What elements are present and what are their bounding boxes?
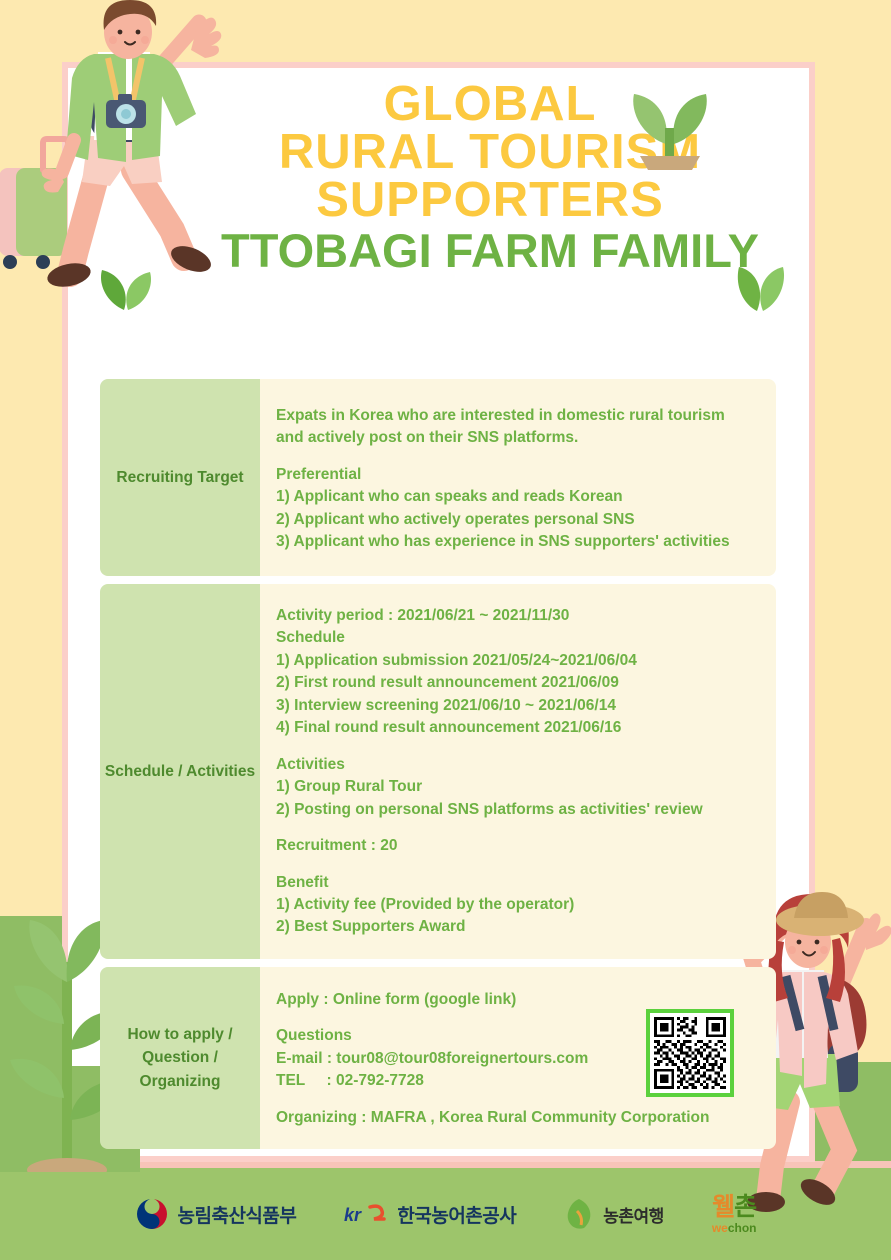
poster-title: GLOBAL RURAL TOURISM SUPPORTERS TTOBAGI … <box>150 80 830 274</box>
welchon-english: wechon <box>712 1222 757 1234</box>
spacer <box>276 858 758 872</box>
spacer <box>276 821 758 835</box>
welchon-korean: 웰촌 <box>712 1195 756 1220</box>
text-line: 2) Applicant who actively operates perso… <box>276 509 758 531</box>
table-row-how-to-apply: How to apply / Question / Organizing App… <box>100 967 776 1149</box>
title-line-4: TTOBAGI FARM FAMILY <box>150 228 830 274</box>
welchon-en-1: we <box>712 1221 728 1235</box>
row-body-recruiting-target: Expats in Korea who are interested in do… <box>260 379 776 576</box>
footer-logo-bar: 농림축산식품부 kr 한국농어촌공사 농촌여행 웰촌 wechon <box>0 1168 891 1260</box>
svg-text:kr: kr <box>344 1205 362 1225</box>
welchon-ko-2: 촌 <box>734 1193 756 1221</box>
row-label-schedule-activities: Schedule / Activities <box>100 584 260 959</box>
text-line: Preferential <box>276 464 758 486</box>
logo-label-rural-travel: 농촌여행 <box>603 1202 664 1227</box>
text-line: 3) Applicant who has experience in SNS s… <box>276 531 758 553</box>
logo-label-krc: 한국농어촌공사 <box>397 1201 516 1228</box>
spacer <box>276 450 758 464</box>
leaf-icon-ttobagi <box>96 268 154 310</box>
table-row-recruiting-target: Recruiting Target Expats in Korea who ar… <box>100 379 776 576</box>
poster-root: GLOBAL RURAL TOURISM SUPPORTERS TTOBAGI … <box>0 0 891 1260</box>
title-line-1: GLOBAL <box>150 80 830 128</box>
title-line-3: SUPPORTERS <box>150 176 830 224</box>
row-body-schedule-activities: Activity period : 2021/06/21 ~ 2021/11/3… <box>260 584 776 959</box>
text-line: 2) Best Supporters Award <box>276 916 758 938</box>
welchon-ko-1: 웰 <box>712 1193 734 1221</box>
text-line: Recruitment : 20 <box>276 835 758 857</box>
logo-label-mafra: 농림축산식품부 <box>178 1201 297 1228</box>
info-table: Recruiting Target Expats in Korea who ar… <box>100 379 776 1157</box>
logo-welchon: 웰촌 wechon <box>712 1195 757 1234</box>
sprout-icon <box>622 86 718 172</box>
text-line: 1) Activity fee (Provided by the operato… <box>276 894 758 916</box>
table-row-schedule-activities: Schedule / Activities Activity period : … <box>100 584 776 959</box>
text-line: 2) First round result announcement 2021/… <box>276 672 758 694</box>
text-line: Activities <box>276 754 758 776</box>
title-line-2: RURAL TOURISM <box>150 128 830 176</box>
text-line: Activity period : 2021/06/21 ~ 2021/11/3… <box>276 605 758 627</box>
krc-mark-icon: kr <box>344 1201 388 1227</box>
text-line: Benefit <box>276 872 758 894</box>
logo-rural-travel: 농촌여행 <box>564 1197 664 1231</box>
row-body-how-to-apply: Apply : Online form (google link) Questi… <box>260 967 776 1149</box>
text-line: Expats in Korea who are interested in do… <box>276 405 758 427</box>
text-line: 1) Applicant who can speaks and reads Ko… <box>276 486 758 508</box>
leaf-mark-icon <box>564 1197 594 1231</box>
text-line: 3) Interview screening 2021/06/10 ~ 2021… <box>276 695 758 717</box>
row-label-how-to-apply: How to apply / Question / Organizing <box>100 967 260 1149</box>
text-line: 4) Final round result announcement 2021/… <box>276 717 758 739</box>
spacer <box>276 740 758 754</box>
row-label-recruiting-target: Recruiting Target <box>100 379 260 576</box>
logo-mafra: 농림축산식품부 <box>135 1197 297 1231</box>
taegeuk-icon <box>135 1197 169 1231</box>
leaf-icon-family <box>735 265 787 313</box>
text-line: Schedule <box>276 627 758 649</box>
welchon-en-2: chon <box>728 1221 757 1235</box>
text-line: and actively post on their SNS platforms… <box>276 427 758 449</box>
logo-krc: kr 한국농어촌공사 <box>344 1201 516 1228</box>
text-line: 1) Group Rural Tour <box>276 776 758 798</box>
text-line: Organizing : MAFRA , Korea Rural Communi… <box>276 1107 758 1129</box>
text-line: 2) Posting on personal SNS platforms as … <box>276 799 758 821</box>
qr-code[interactable] <box>646 1009 734 1097</box>
text-line: 1) Application submission 2021/05/24~202… <box>276 650 758 672</box>
